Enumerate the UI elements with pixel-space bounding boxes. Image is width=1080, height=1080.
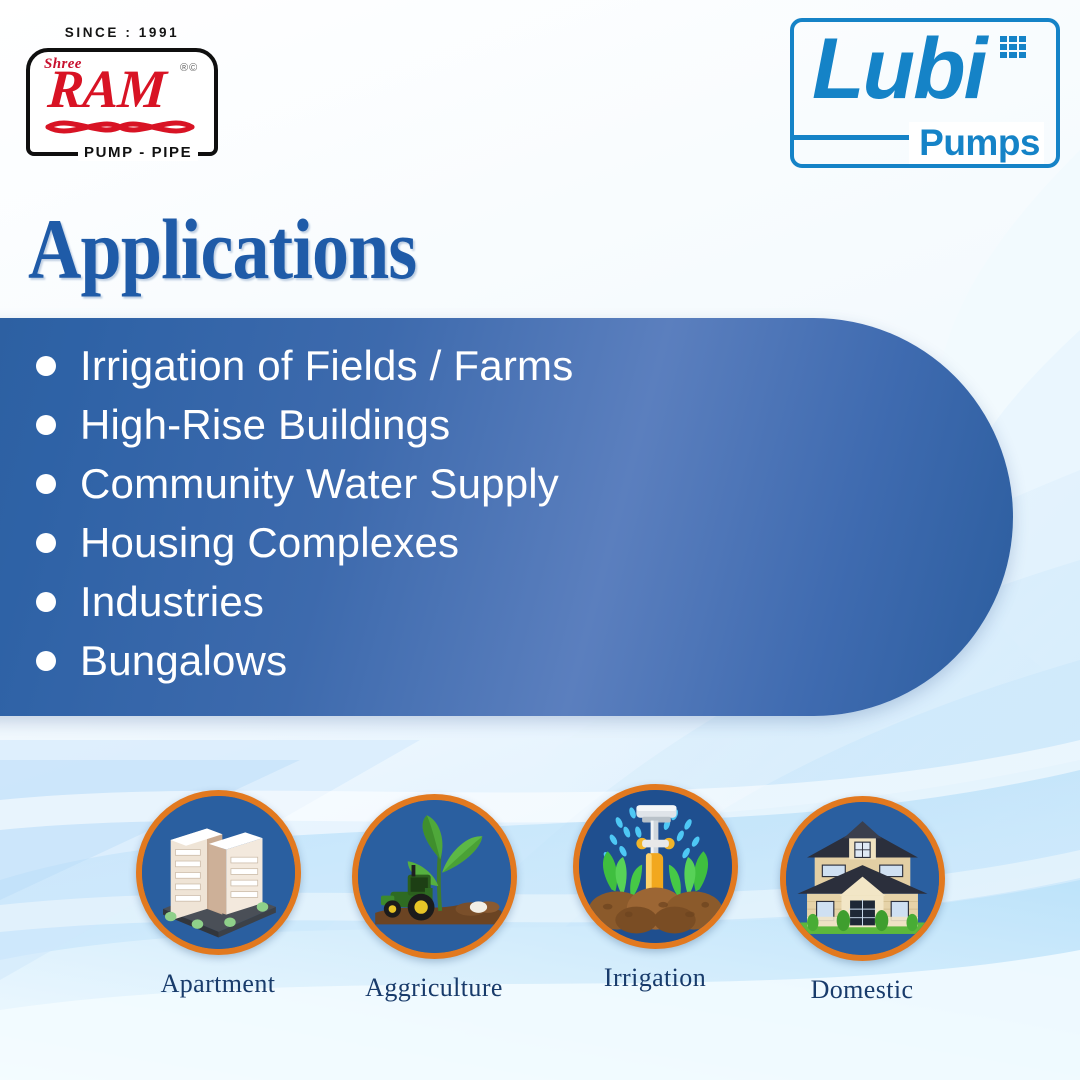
swirl-flourish-icon [44,114,196,140]
list-item-label: High-Rise Buildings [80,401,450,449]
promotional-poster: SINCE : 1991 Shree RAM ®© PUMP - PIPE Lu… [0,0,1080,1080]
segment-apartment[interactable]: Apartment [118,790,318,999]
bullet-dot-icon [36,533,56,553]
segment-label: Irrigation [555,963,755,993]
list-item: Irrigation of Fields / Farms [28,336,928,395]
bullet-dot-icon [36,592,56,612]
tractor-plant-icon [352,794,517,959]
bullet-dot-icon [36,415,56,435]
segment-domestic[interactable]: Domestic [762,796,962,1005]
logo-underline [794,135,912,140]
segment-label: Aggriculture [334,973,534,1003]
sprinkler-icon [573,784,738,949]
bullet-dot-icon [36,356,56,376]
page-title: Applications [28,206,416,292]
bullet-dot-icon [36,474,56,494]
segment-agriculture[interactable]: Aggriculture [334,794,534,1003]
list-item: Industries [28,572,928,631]
grid-squares-icon [1000,36,1026,58]
list-item-label: Community Water Supply [80,460,559,508]
segment-label: Domestic [762,975,962,1005]
list-item: Housing Complexes [28,513,928,572]
list-item: Community Water Supply [28,454,928,513]
pump-pipe-tagline: PUMP - PIPE [78,144,198,161]
house-icon [780,796,945,961]
applications-list: Irrigation of Fields / Farms High-Rise B… [28,336,928,690]
segment-icons-row: Apartment [0,780,1080,1060]
list-item: Bungalows [28,631,928,690]
since-text: SINCE : 1991 [22,25,222,40]
bullet-dot-icon [36,651,56,671]
apartment-buildings-icon [136,790,301,955]
pumps-subtitle: Pumps [909,122,1044,164]
list-item: High-Rise Buildings [28,395,928,454]
list-item-label: Housing Complexes [80,519,459,567]
list-item-label: Irrigation of Fields / Farms [80,342,573,390]
ram-wordmark: RAM [46,62,167,116]
shree-ram-logo: SINCE : 1991 Shree RAM ®© PUMP - PIPE [22,18,222,168]
lubi-wordmark: Lubi [812,24,986,114]
lubi-pumps-logo: Lubi Pumps [790,18,1060,168]
list-item-label: Industries [80,578,264,626]
segment-label: Apartment [118,969,318,999]
list-item-label: Bungalows [80,637,287,685]
registered-mark-icon: ®© [180,62,198,74]
segment-irrigation[interactable]: Irrigation [555,784,755,993]
